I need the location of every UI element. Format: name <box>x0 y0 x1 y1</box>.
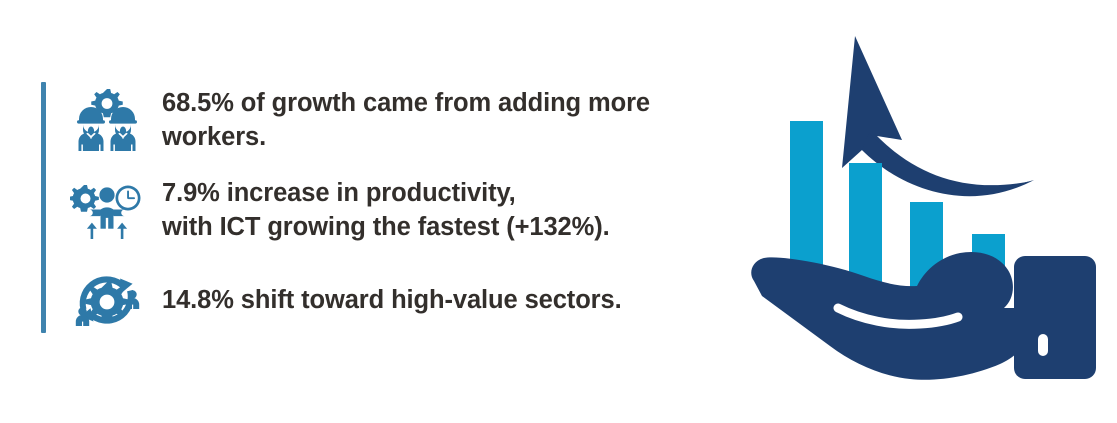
stat-row: 7.9% increase in productivity, with ICT … <box>70 162 760 258</box>
stat-text: 68.5% of growth came from adding more wo… <box>162 86 760 154</box>
workers-gear-icon <box>70 85 144 155</box>
hand-holding-bar-chart-with-arrow <box>742 8 1117 423</box>
phone-card <box>1014 256 1096 379</box>
open-hand <box>751 252 1030 380</box>
stat-row: 14.8% shift toward high-value sectors. <box>70 258 760 342</box>
infographic-canvas: 68.5% of growth came from adding more wo… <box>0 0 1117 423</box>
stat-list: 68.5% of growth came from adding more wo… <box>70 78 760 342</box>
stat-text: 7.9% increase in productivity, with ICT … <box>162 176 610 244</box>
vertical-accent-rule <box>41 82 46 333</box>
gear-cycle-people-icon <box>70 265 144 335</box>
stats-panel: 68.5% of growth came from adding more wo… <box>0 0 760 423</box>
stat-row: 68.5% of growth came from adding more wo… <box>70 78 760 162</box>
productivity-person-clock-gear-icon <box>70 175 144 245</box>
stat-text: 14.8% shift toward high-value sectors. <box>162 283 622 317</box>
